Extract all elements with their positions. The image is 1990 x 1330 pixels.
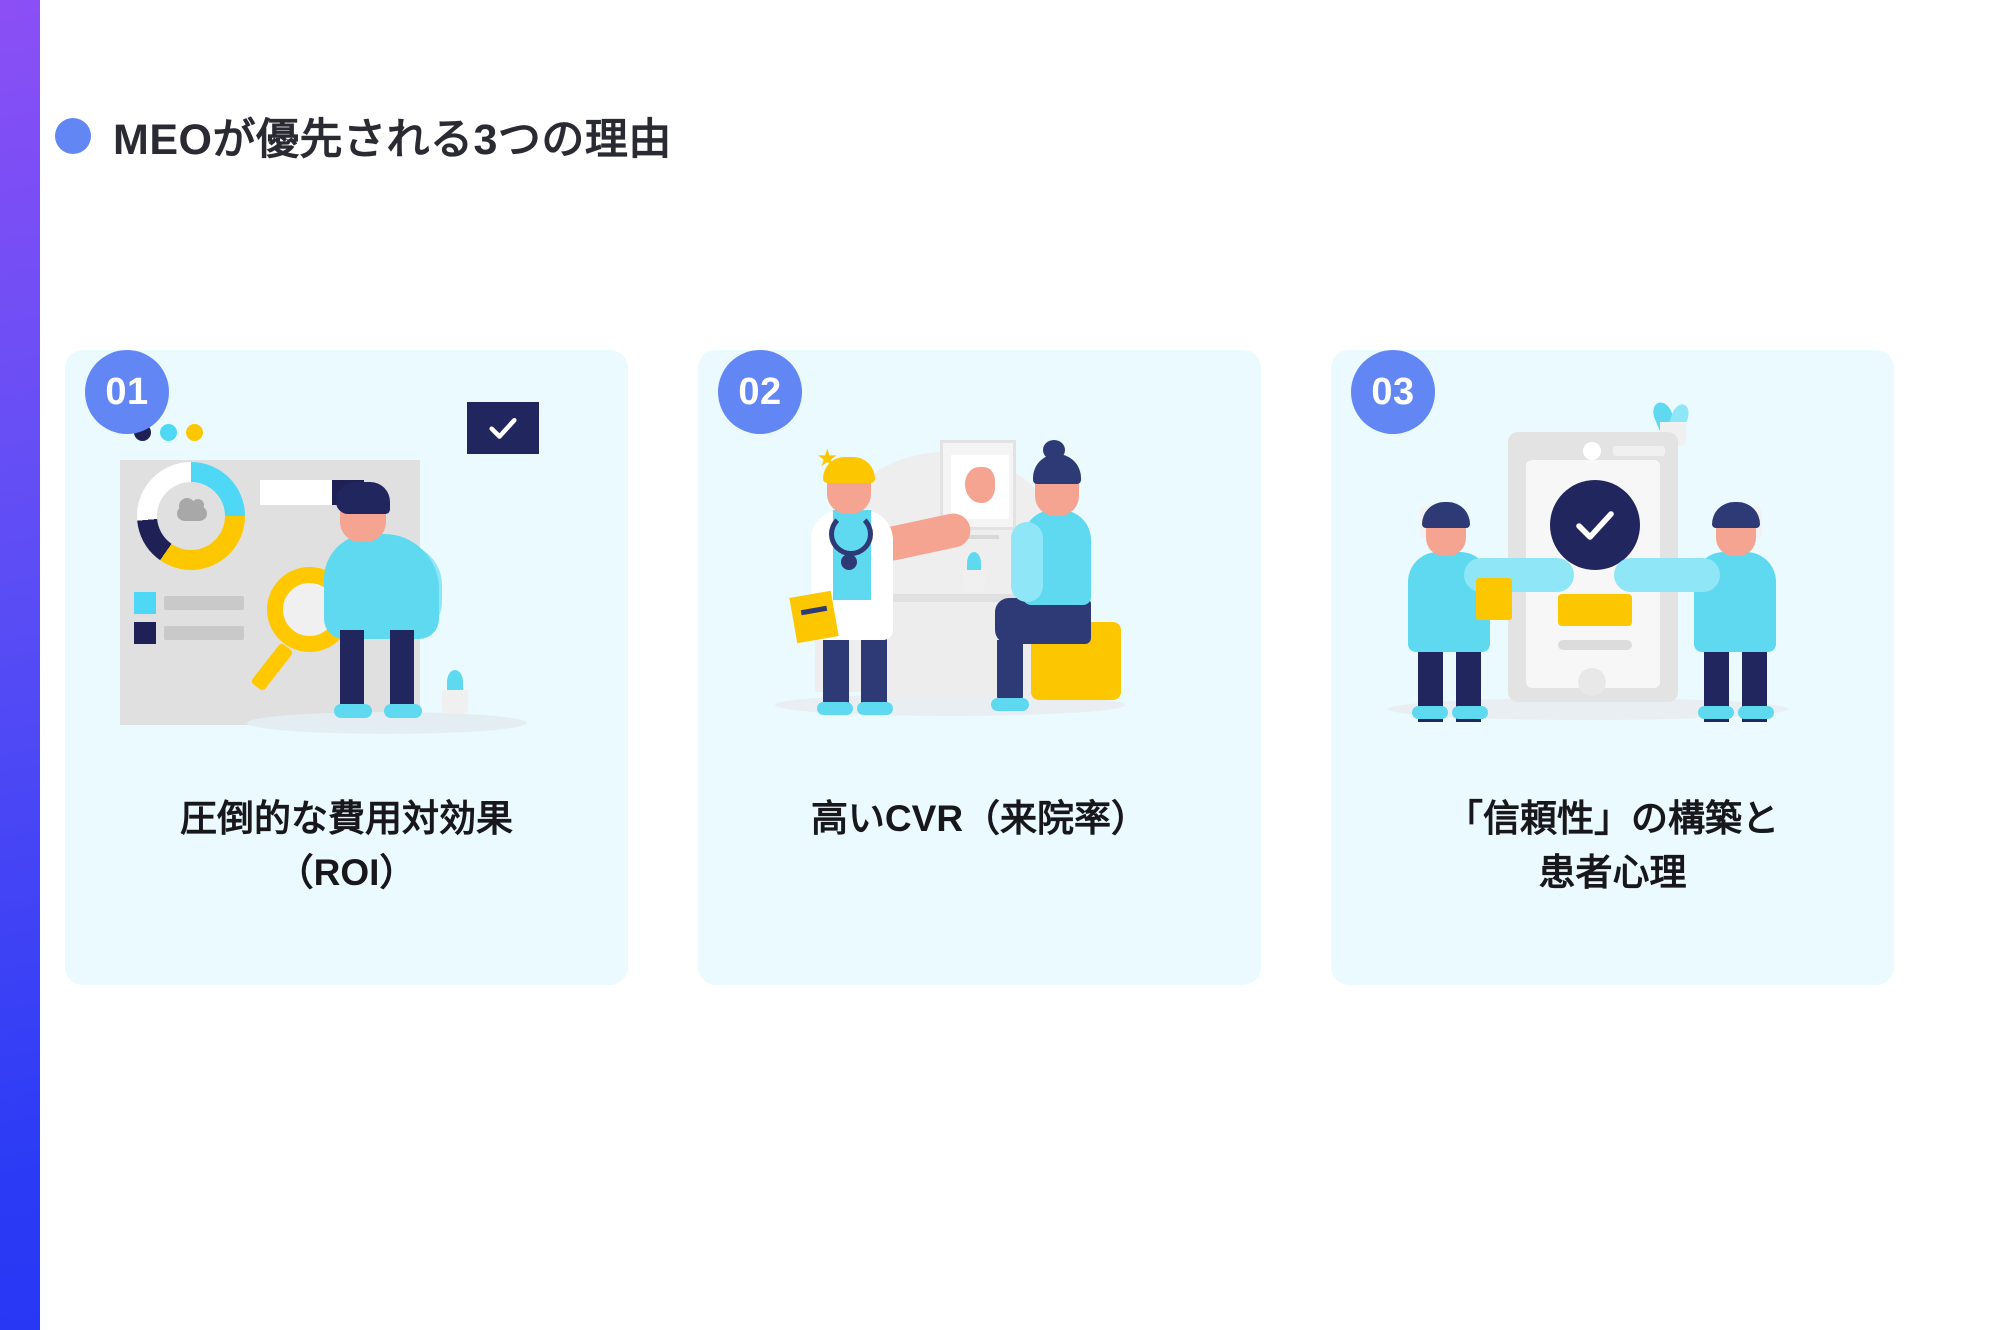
person-leg bbox=[390, 630, 414, 712]
stethoscope-icon bbox=[829, 512, 873, 556]
placeholder-line bbox=[164, 596, 244, 610]
check-icon bbox=[1571, 501, 1619, 549]
verified-check-badge bbox=[1550, 480, 1640, 570]
person-left-shoe bbox=[1452, 706, 1488, 719]
patient-arm bbox=[1011, 522, 1043, 602]
patient-leg bbox=[997, 640, 1023, 702]
phone-home-button-icon bbox=[1578, 668, 1606, 696]
window-dot-yellow-icon bbox=[186, 424, 203, 441]
person-shoe bbox=[334, 704, 372, 718]
card-body: 02 bbox=[698, 350, 1261, 985]
card-badge-01: 01 bbox=[85, 350, 169, 434]
card-badge-02: 02 bbox=[718, 350, 802, 434]
person-leg bbox=[340, 630, 364, 712]
doctor-shoe bbox=[857, 702, 893, 715]
star-icon: ★ bbox=[817, 448, 839, 470]
doctor-leg bbox=[823, 634, 849, 710]
cloud-icon bbox=[177, 506, 207, 521]
person-right-shoe bbox=[1738, 706, 1774, 719]
slide-header: MEOが優先される3つの理由 bbox=[55, 105, 672, 167]
card-body: 01 bbox=[65, 350, 628, 985]
stethoscope-bell-icon bbox=[841, 554, 857, 570]
illustration-trust-handshake bbox=[1378, 402, 1848, 782]
card-title: 「信頼性」の構築と 患者心理 bbox=[1373, 792, 1853, 899]
slide-canvas: MEOが優先される3つの理由 01 bbox=[40, 0, 1990, 1330]
patient-hair bbox=[1033, 454, 1081, 484]
page-title: MEOが優先される3つの理由 bbox=[113, 105, 672, 167]
check-icon bbox=[486, 411, 520, 445]
person-left-shoe bbox=[1412, 706, 1448, 719]
person-shoe bbox=[384, 704, 422, 718]
card-body: 03 bbox=[1331, 350, 1894, 985]
card-title: 圧倒的な費用対効果 （ROI） bbox=[107, 792, 587, 899]
person-right-arm bbox=[1614, 558, 1720, 592]
card-title: 高いCVR（来院率） bbox=[740, 792, 1220, 846]
person-hair bbox=[336, 482, 390, 514]
gradient-frame: MEOが優先される3つの理由 01 bbox=[0, 0, 1990, 1330]
placeholder-line bbox=[1558, 640, 1632, 650]
person-torso bbox=[324, 534, 439, 639]
bullet-dot-icon bbox=[55, 118, 91, 154]
card-badge-03: 03 bbox=[1351, 350, 1435, 434]
plant-pot-icon bbox=[442, 690, 468, 714]
stomach-diagram-icon bbox=[965, 467, 995, 503]
person-right-shoe bbox=[1698, 706, 1734, 719]
cards-row: 01 bbox=[65, 305, 1960, 985]
card-2: 02 bbox=[698, 305, 1261, 985]
check-badge bbox=[467, 402, 539, 454]
phone-camera-icon bbox=[1583, 442, 1601, 460]
yellow-card-icon bbox=[1476, 578, 1512, 620]
legend-swatch-cyan bbox=[134, 592, 156, 614]
plant-pot-icon bbox=[963, 570, 985, 592]
illustration-analytics-dashboard bbox=[112, 402, 582, 782]
card-3: 03 bbox=[1331, 305, 1894, 985]
window-dot-cyan-icon bbox=[160, 424, 177, 441]
poster-inner bbox=[951, 455, 1009, 519]
phone-status-line bbox=[1613, 446, 1665, 456]
doctor-shoe bbox=[817, 702, 853, 715]
card-1: 01 bbox=[65, 305, 628, 985]
illustration-doctor-patient: ★ bbox=[745, 402, 1215, 782]
legend-swatch-navy bbox=[134, 622, 156, 644]
donut-chart-icon bbox=[137, 462, 245, 570]
patient-shoe bbox=[991, 698, 1029, 711]
doctor-leg bbox=[861, 634, 887, 710]
clipboard-icon bbox=[789, 591, 838, 644]
cta-button-shape bbox=[1558, 594, 1632, 626]
placeholder-line bbox=[164, 626, 244, 640]
